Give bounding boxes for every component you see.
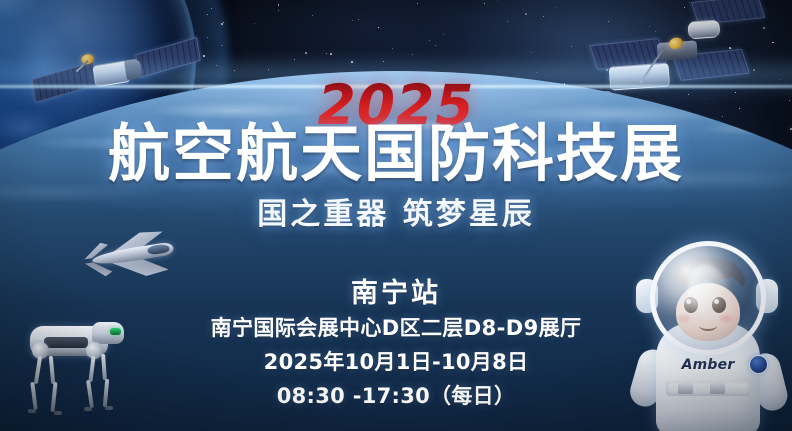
page-title: 航空航天国防科技展 <box>0 121 792 187</box>
robot-dog-foot-2 <box>54 411 62 415</box>
poster-subtitle: 国之重器 筑梦星辰 <box>0 197 792 233</box>
event-city: 南宁站 <box>0 277 792 310</box>
event-dates: 2025年10月1日-10月8日 <box>0 349 792 376</box>
event-info-block: 南宁站 南宁国际会展中心D区二层D8-D9展厅 2025年10月1日-10月8日… <box>0 277 792 410</box>
station-end-module <box>687 19 720 39</box>
event-venue: 南宁国际会展中心D区二层D8-D9展厅 <box>0 315 792 342</box>
event-hours: 08:30 -17:30（每日） <box>0 383 792 410</box>
exhibition-poster: Amber 2025 航空航天国防科技展 国之重器 筑梦星辰 南宁站 南宁国际会… <box>0 0 792 431</box>
